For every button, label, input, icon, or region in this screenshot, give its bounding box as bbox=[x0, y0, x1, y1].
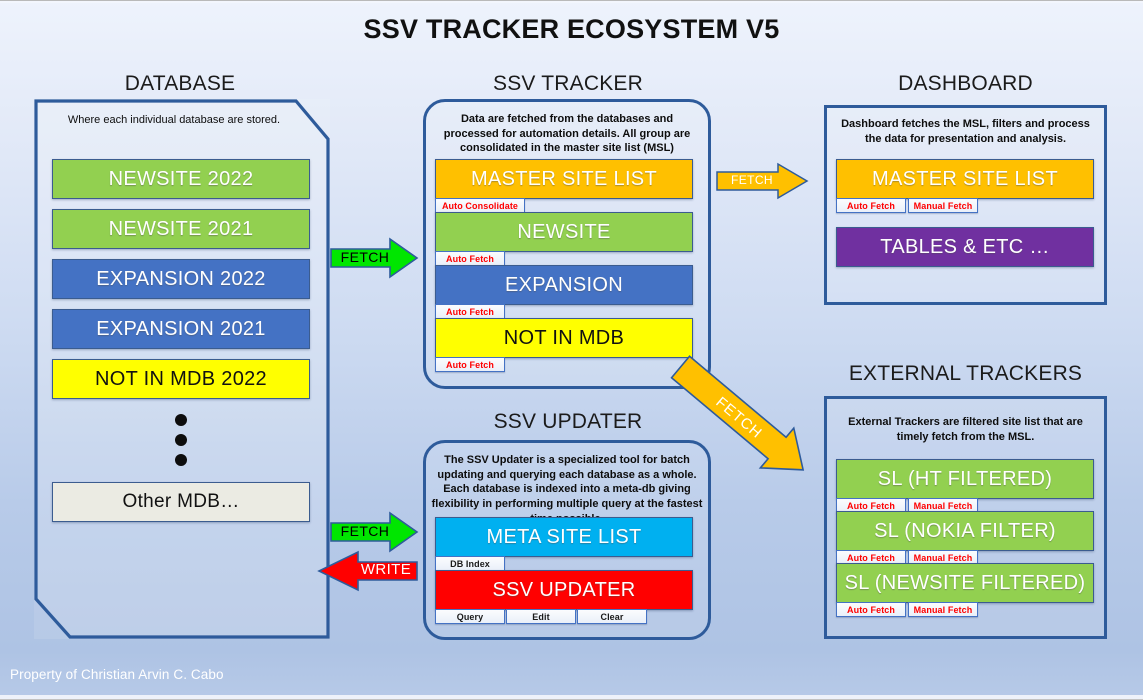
panel-description-updater: The SSV Updater is a specialized tool fo… bbox=[431, 453, 703, 526]
dashboard-item-master-site-list[interactable]: MASTER SITE LIST bbox=[836, 159, 1094, 199]
tag-clear[interactable]: Clear bbox=[577, 609, 647, 624]
external-item-sl-ht-filtered[interactable]: SL (HT FILTERED) bbox=[836, 459, 1094, 499]
ellipsis-dot-3 bbox=[175, 454, 187, 466]
arrow-fetch-db-to-tracker: FETCH bbox=[330, 238, 418, 278]
db-item-not-in-mdb-2022[interactable]: NOT IN MDB 2022 bbox=[52, 359, 310, 399]
tag-auto-fetch-not-in-mdb[interactable]: Auto Fetch bbox=[435, 357, 505, 372]
updater-item-ssv-updater[interactable]: SSV UPDATER bbox=[435, 570, 693, 610]
section-heading-dashboard: DASHBOARD bbox=[824, 72, 1107, 96]
arrow-fetch-tracker-to-dashboard: FETCH bbox=[716, 163, 808, 199]
tag-newsite-manual-fetch[interactable]: Manual Fetch bbox=[908, 602, 978, 617]
db-item-other-mdb[interactable]: Other MDB… bbox=[52, 482, 310, 522]
ellipsis-dot-1 bbox=[175, 414, 187, 426]
external-item-sl-newsite-filtered[interactable]: SL (NEWSITE FILTERED) bbox=[836, 563, 1094, 603]
arrow-label-fetch-2: FETCH bbox=[321, 523, 409, 539]
section-heading-tracker: SSV TRACKER bbox=[423, 72, 713, 96]
updater-item-meta-site-list[interactable]: META SITE LIST bbox=[435, 517, 693, 557]
tag-query[interactable]: Query bbox=[435, 609, 505, 624]
db-item-newsite-2021[interactable]: NEWSITE 2021 bbox=[52, 209, 310, 249]
tag-newsite-auto-fetch[interactable]: Auto Fetch bbox=[836, 602, 906, 617]
window-top-edge bbox=[0, 0, 1143, 3]
panel-description-external: External Trackers are filtered site list… bbox=[832, 415, 1099, 444]
tag-auto-fetch-expansion[interactable]: Auto Fetch bbox=[435, 304, 505, 319]
section-heading-external: EXTERNAL TRACKERS bbox=[824, 362, 1107, 386]
dashboard-item-tables-etc[interactable]: TABLES & ETC … bbox=[836, 227, 1094, 267]
tag-dashboard-auto-fetch[interactable]: Auto Fetch bbox=[836, 198, 906, 213]
arrow-write-updater-to-db: WRITE bbox=[318, 551, 418, 591]
db-item-expansion-2022[interactable]: EXPANSION 2022 bbox=[52, 259, 310, 299]
external-item-sl-nokia-filter[interactable]: SL (NOKIA FILTER) bbox=[836, 511, 1094, 551]
db-item-newsite-2022[interactable]: NEWSITE 2022 bbox=[52, 159, 310, 199]
tracker-item-expansion[interactable]: EXPANSION bbox=[435, 265, 693, 305]
panel-description-database: Where each individual database are store… bbox=[44, 113, 304, 128]
tag-auto-consolidate[interactable]: Auto Consolidate bbox=[435, 198, 525, 213]
tag-dashboard-manual-fetch[interactable]: Manual Fetch bbox=[908, 198, 978, 213]
tag-db-index[interactable]: DB Index bbox=[435, 556, 505, 571]
window-bottom-edge bbox=[0, 695, 1143, 700]
arrow-label-fetch-3: FETCH bbox=[706, 173, 798, 187]
panel-description-dashboard: Dashboard fetches the MSL, filters and p… bbox=[833, 117, 1098, 146]
page-title: SSV TRACKER ECOSYSTEM V5 bbox=[0, 14, 1143, 45]
arrow-label-fetch-1: FETCH bbox=[321, 249, 409, 265]
tag-auto-fetch-newsite[interactable]: Auto Fetch bbox=[435, 251, 505, 266]
arrow-fetch-db-to-updater: FETCH bbox=[330, 512, 418, 552]
tag-edit[interactable]: Edit bbox=[506, 609, 576, 624]
arrow-label-write: WRITE bbox=[336, 561, 436, 578]
ellipsis-dot-2 bbox=[175, 434, 187, 446]
panel-description-tracker: Data are fetched from the databases and … bbox=[432, 112, 702, 156]
arrow-fetch-tracker-to-external: FETCH bbox=[672, 365, 832, 495]
tracker-item-master-site-list[interactable]: MASTER SITE LIST bbox=[435, 159, 693, 199]
footer-copyright: Property of Christian Arvin C. Cabo bbox=[10, 667, 224, 682]
tracker-item-not-in-mdb[interactable]: NOT IN MDB bbox=[435, 318, 693, 358]
db-item-expansion-2021[interactable]: EXPANSION 2021 bbox=[52, 309, 310, 349]
section-heading-updater: SSV UPDATER bbox=[423, 410, 713, 434]
tracker-item-newsite[interactable]: NEWSITE bbox=[435, 212, 693, 252]
section-heading-database: DATABASE bbox=[40, 72, 320, 96]
